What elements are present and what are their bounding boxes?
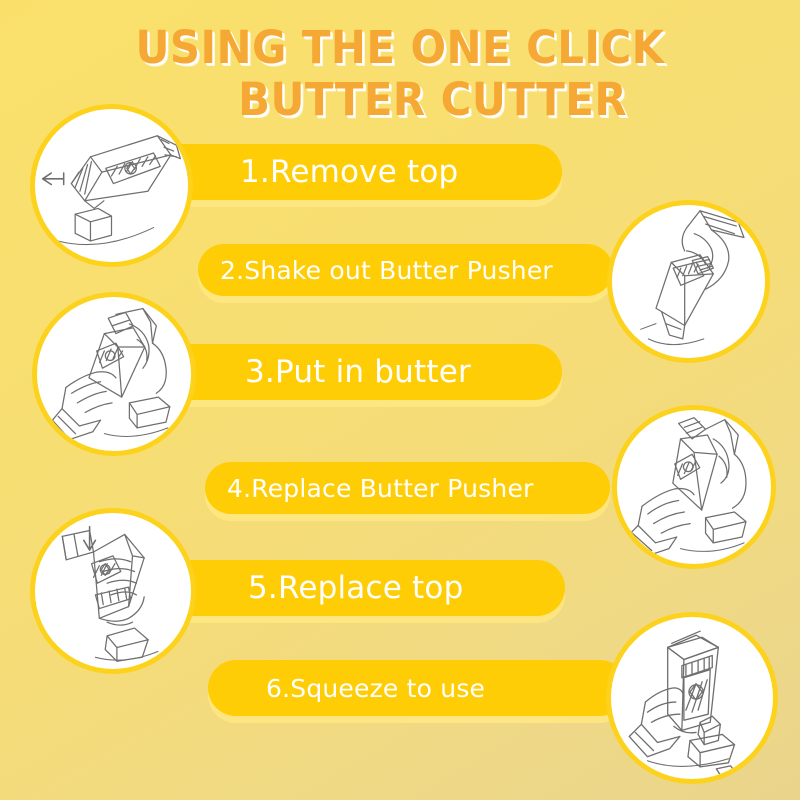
illustration-replace-top xyxy=(35,513,191,669)
step-image-2 xyxy=(607,200,770,363)
step-pill-4: 4.Replace Butter Pusher xyxy=(205,462,610,514)
step-label-4: 4.Replace Butter Pusher xyxy=(227,474,534,503)
title-line-1: USING THE ONE CLICK xyxy=(28,22,772,74)
step-image-5 xyxy=(30,508,196,674)
step-image-3 xyxy=(32,292,196,456)
step-image-4 xyxy=(612,405,776,569)
illustration-shake-out-pusher xyxy=(612,205,765,358)
step-label-2: 2.Shake out Butter Pusher xyxy=(220,256,553,285)
step-pill-1: 1.Remove top xyxy=(130,144,562,200)
step-label-1: 1.Remove top xyxy=(240,154,458,190)
step-label-5: 5.Replace top xyxy=(248,570,463,606)
step-image-6 xyxy=(606,612,778,784)
step-pill-5: 5.Replace top xyxy=(140,560,565,616)
illustration-put-in-butter xyxy=(37,297,191,451)
step-image-1 xyxy=(30,104,193,267)
infographic-poster: USING THE ONE CLICK BUTTER CUTTER 1.Remo… xyxy=(0,0,800,800)
illustration-replace-pusher xyxy=(617,410,771,564)
illustration-squeeze-to-use xyxy=(611,617,773,779)
step-pill-6: 6.Squeeze to use xyxy=(208,660,628,716)
illustration-remove-top xyxy=(35,109,188,262)
step-pill-3: 3.Put in butter xyxy=(135,344,562,400)
step-label-3: 3.Put in butter xyxy=(245,354,471,390)
step-label-6: 6.Squeeze to use xyxy=(266,674,485,703)
step-pill-2: 2.Shake out Butter Pusher xyxy=(198,244,613,296)
